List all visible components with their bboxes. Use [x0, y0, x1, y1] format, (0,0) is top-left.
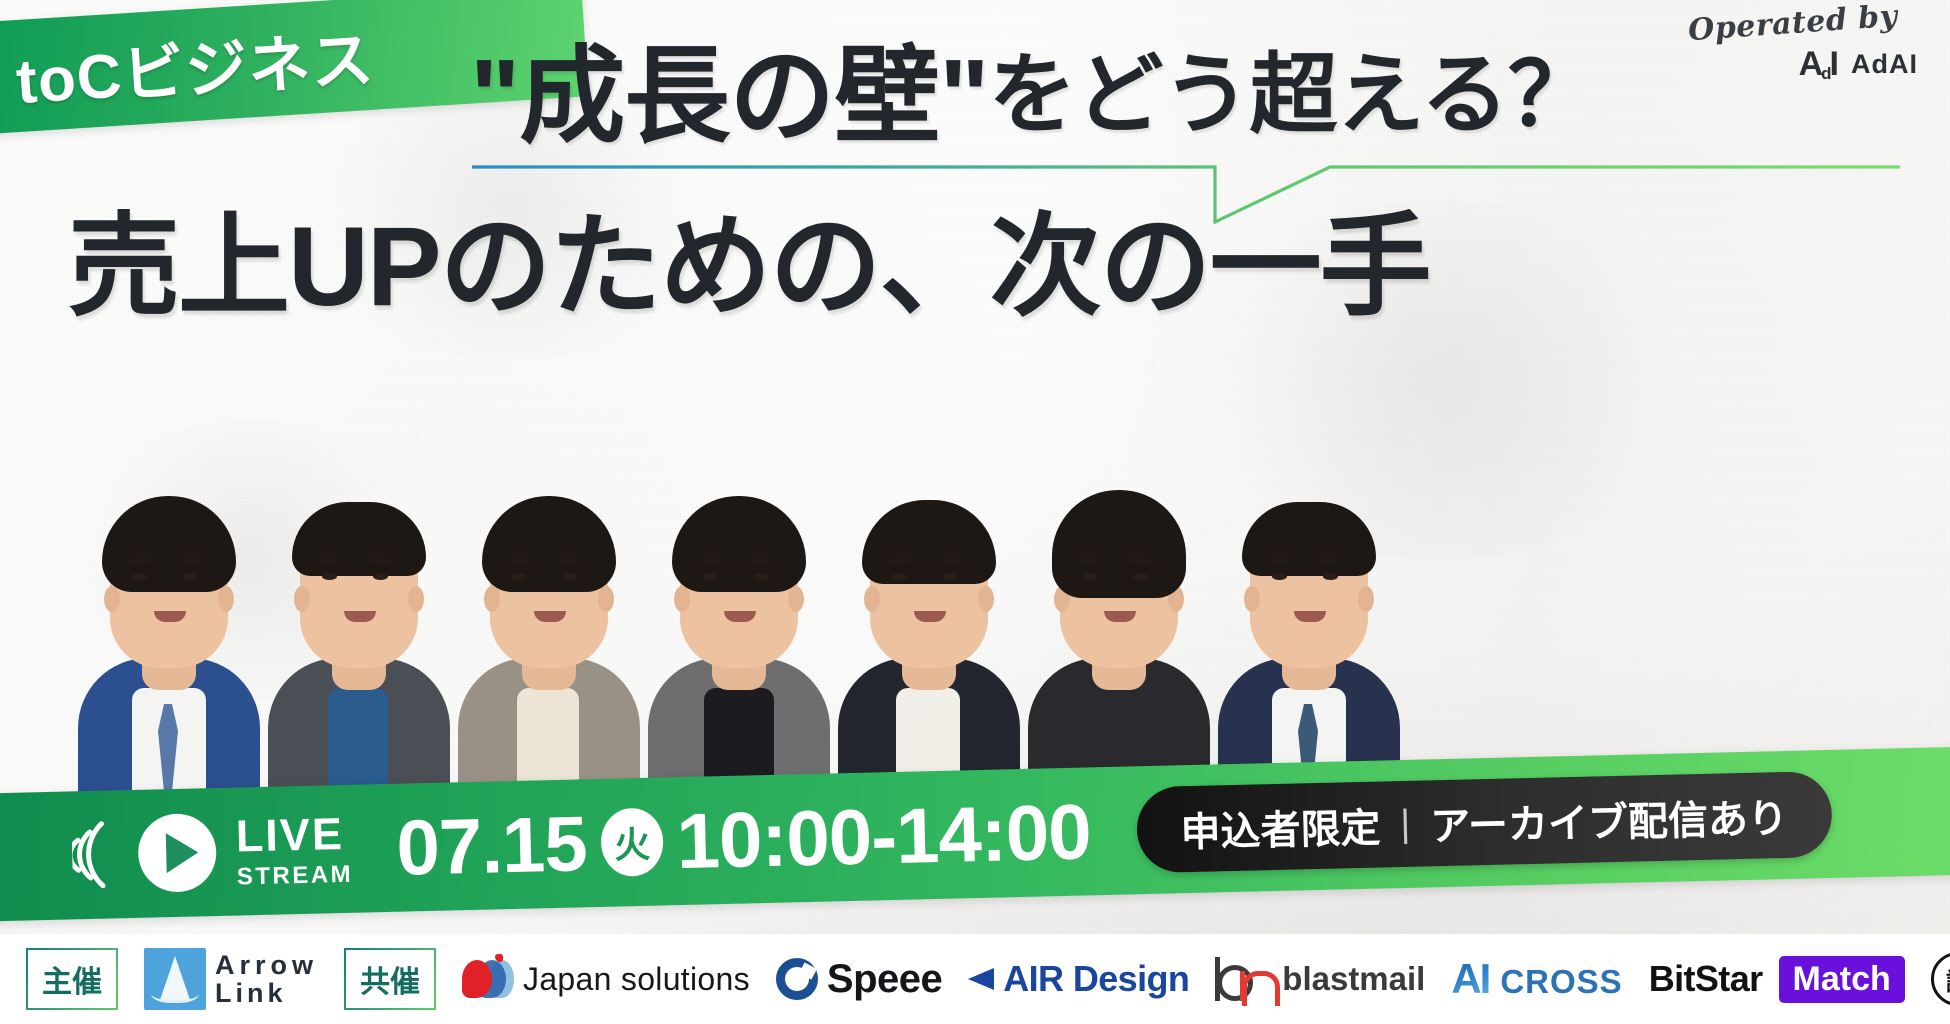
event-date: 07.15	[395, 798, 587, 893]
applicants-only-label: 申込者限定	[1180, 796, 1381, 859]
live-label: LIVE	[235, 811, 352, 859]
logo-air-design[interactable]: AIR Design	[968, 958, 1189, 1000]
speaker-portrait	[260, 348, 456, 808]
toc-business-badge-label: toCビジネス	[13, 9, 376, 121]
logo-speee[interactable]: Speee	[776, 957, 942, 1002]
speaker-portrait	[1210, 348, 1406, 808]
speaker-brow	[129, 559, 150, 564]
archive-notice-badge: 申込者限定 | アーカイブ配信あり	[1135, 771, 1832, 873]
adai-logo: AdI AdAI	[1688, 45, 1918, 84]
speaker-hair	[672, 496, 806, 592]
speaker-eye	[753, 573, 768, 580]
shikigaku-seal-icon: 識	[1931, 952, 1950, 1006]
air-design-arrow-icon	[968, 968, 994, 990]
logo-bitstar-match[interactable]: BitStar Match	[1649, 956, 1905, 1003]
adai-mark-icon: AdI	[1795, 45, 1841, 84]
speee-ring-icon	[776, 958, 818, 1000]
ai-cross-wordmark: CROSS	[1500, 963, 1622, 1001]
speaker-brow	[180, 559, 201, 564]
speaker-brow	[699, 559, 720, 564]
arrow-link-line1: Arrow	[215, 951, 318, 979]
speaker-ear	[1244, 586, 1260, 612]
speaker-ear	[788, 586, 804, 612]
archive-delivery-label: アーカイブ配信あり	[1430, 786, 1789, 852]
headline-quoted-text: "成長の壁"	[470, 10, 989, 164]
speaker-hair	[482, 496, 616, 592]
speaker-eye	[183, 573, 198, 580]
play-triangle-icon	[165, 832, 198, 873]
speaker-eye	[512, 573, 527, 580]
speaker-eye	[1133, 573, 1148, 580]
speaker-brow	[319, 559, 340, 564]
blastmail-wordmark: blastmail	[1282, 960, 1425, 998]
speaker-hair	[102, 496, 236, 592]
speaker-portrait	[1020, 348, 1216, 808]
speaker-eye	[702, 573, 717, 580]
speaker-hair	[1242, 502, 1376, 576]
event-day-of-week: 火	[600, 807, 664, 876]
play-icon[interactable]	[137, 813, 217, 893]
speaker-photo-row	[70, 338, 1610, 808]
speaker-eye	[132, 573, 147, 580]
japan-solutions-wordmark: Japan solutions	[523, 961, 750, 998]
speaker-portrait	[640, 348, 836, 808]
speaker-brow	[750, 559, 771, 564]
speaker-eye	[1082, 573, 1097, 580]
logo-japan-solutions[interactable]: Japan solutions	[462, 958, 750, 1000]
speaker-brow	[509, 559, 530, 564]
speaker-brow	[940, 559, 961, 564]
speee-wordmark: Speee	[827, 957, 942, 1002]
speaker-brow	[1130, 559, 1151, 564]
air-design-wordmark: AIR Design	[1003, 958, 1189, 1000]
event-time: 10:00-14:00	[676, 786, 1092, 887]
broadcast-waves-icon	[71, 815, 117, 894]
stream-label: STREAM	[237, 863, 354, 890]
host-chip: 主催	[26, 948, 118, 1010]
speaker-eye	[892, 573, 907, 580]
logo-shikigaku[interactable]: 識 識 学 SHIKIGAKU	[1931, 952, 1950, 1007]
speaker-brow	[370, 559, 391, 564]
speaker-brow	[1269, 559, 1290, 564]
badge-separator: |	[1400, 802, 1411, 845]
blastmail-bm-icon	[1215, 957, 1273, 1001]
speaker-ear	[218, 586, 234, 612]
speaker-eye	[322, 573, 337, 580]
headline-line-2: 売上UPのための、次の一手	[68, 192, 1898, 322]
arrow-link-mark-icon	[144, 948, 206, 1010]
speaker-ear	[978, 586, 994, 612]
operated-by-label: Operated by	[1687, 0, 1899, 48]
japan-solutions-mark-icon	[462, 958, 514, 1000]
speaker-brow	[1320, 559, 1341, 564]
speaker-portrait	[70, 348, 266, 808]
bitstar-wordmark: BitStar	[1649, 958, 1763, 1000]
speaker-hair	[292, 502, 426, 576]
live-stream-bar-content: LIVE STREAM 07.15 火 10:00-14:00 申込者限定 | …	[71, 767, 1893, 901]
arrow-link-wordmark: Arrow Link	[215, 951, 318, 1008]
speaker-eye	[943, 573, 958, 580]
speaker-brow	[1079, 559, 1100, 564]
speaker-hair	[1052, 490, 1186, 598]
speaker-eye	[373, 573, 388, 580]
speaker-ear	[294, 586, 310, 612]
match-badge: Match	[1779, 956, 1905, 1003]
ai-cross-mark-icon: AI	[1451, 955, 1489, 1003]
event-datetime: 07.15 火 10:00-14:00	[395, 786, 1091, 893]
speaker-ear	[864, 586, 880, 612]
speaker-portrait	[450, 348, 646, 808]
headline-line-1-rest: をどう超える？	[989, 24, 1595, 151]
headline-line-1: "成長の壁" をどう超える？	[470, 22, 1770, 152]
sponsor-strip: 主催 Arrow Link 共催 Japan solutions Speee A…	[0, 934, 1950, 1024]
speaker-ear	[598, 586, 614, 612]
speaker-ear	[484, 586, 500, 612]
speaker-brow	[560, 559, 581, 564]
logo-arrow-link[interactable]: Arrow Link	[144, 948, 318, 1010]
speaker-eye	[1272, 573, 1287, 580]
speaker-ear	[408, 586, 424, 612]
logo-blastmail[interactable]: blastmail	[1215, 957, 1425, 1001]
headline-line-2-text: 売上UPのための、次の一手	[68, 176, 1430, 338]
speaker-eye	[563, 573, 578, 580]
adai-wordmark: AdAI	[1851, 49, 1918, 80]
speaker-ear	[1358, 586, 1374, 612]
arrow-link-line2: Link	[215, 979, 318, 1007]
speaker-ear	[104, 586, 120, 612]
speaker-brow	[889, 559, 910, 564]
speaker-ear	[674, 586, 690, 612]
live-stream-label: LIVE STREAM	[235, 811, 353, 890]
speaker-eye	[1323, 573, 1338, 580]
operated-by-block: Operated by AdI AdAI	[1688, 6, 1918, 84]
cohost-chip: 共催	[344, 948, 436, 1010]
speaker-portrait	[830, 348, 1026, 808]
webinar-banner: toCビジネス "成長の壁" をどう超える？ 売上	[0, 0, 1950, 1024]
logo-ai-cross[interactable]: AI CROSS	[1451, 955, 1622, 1003]
speaker-hair	[862, 500, 996, 584]
